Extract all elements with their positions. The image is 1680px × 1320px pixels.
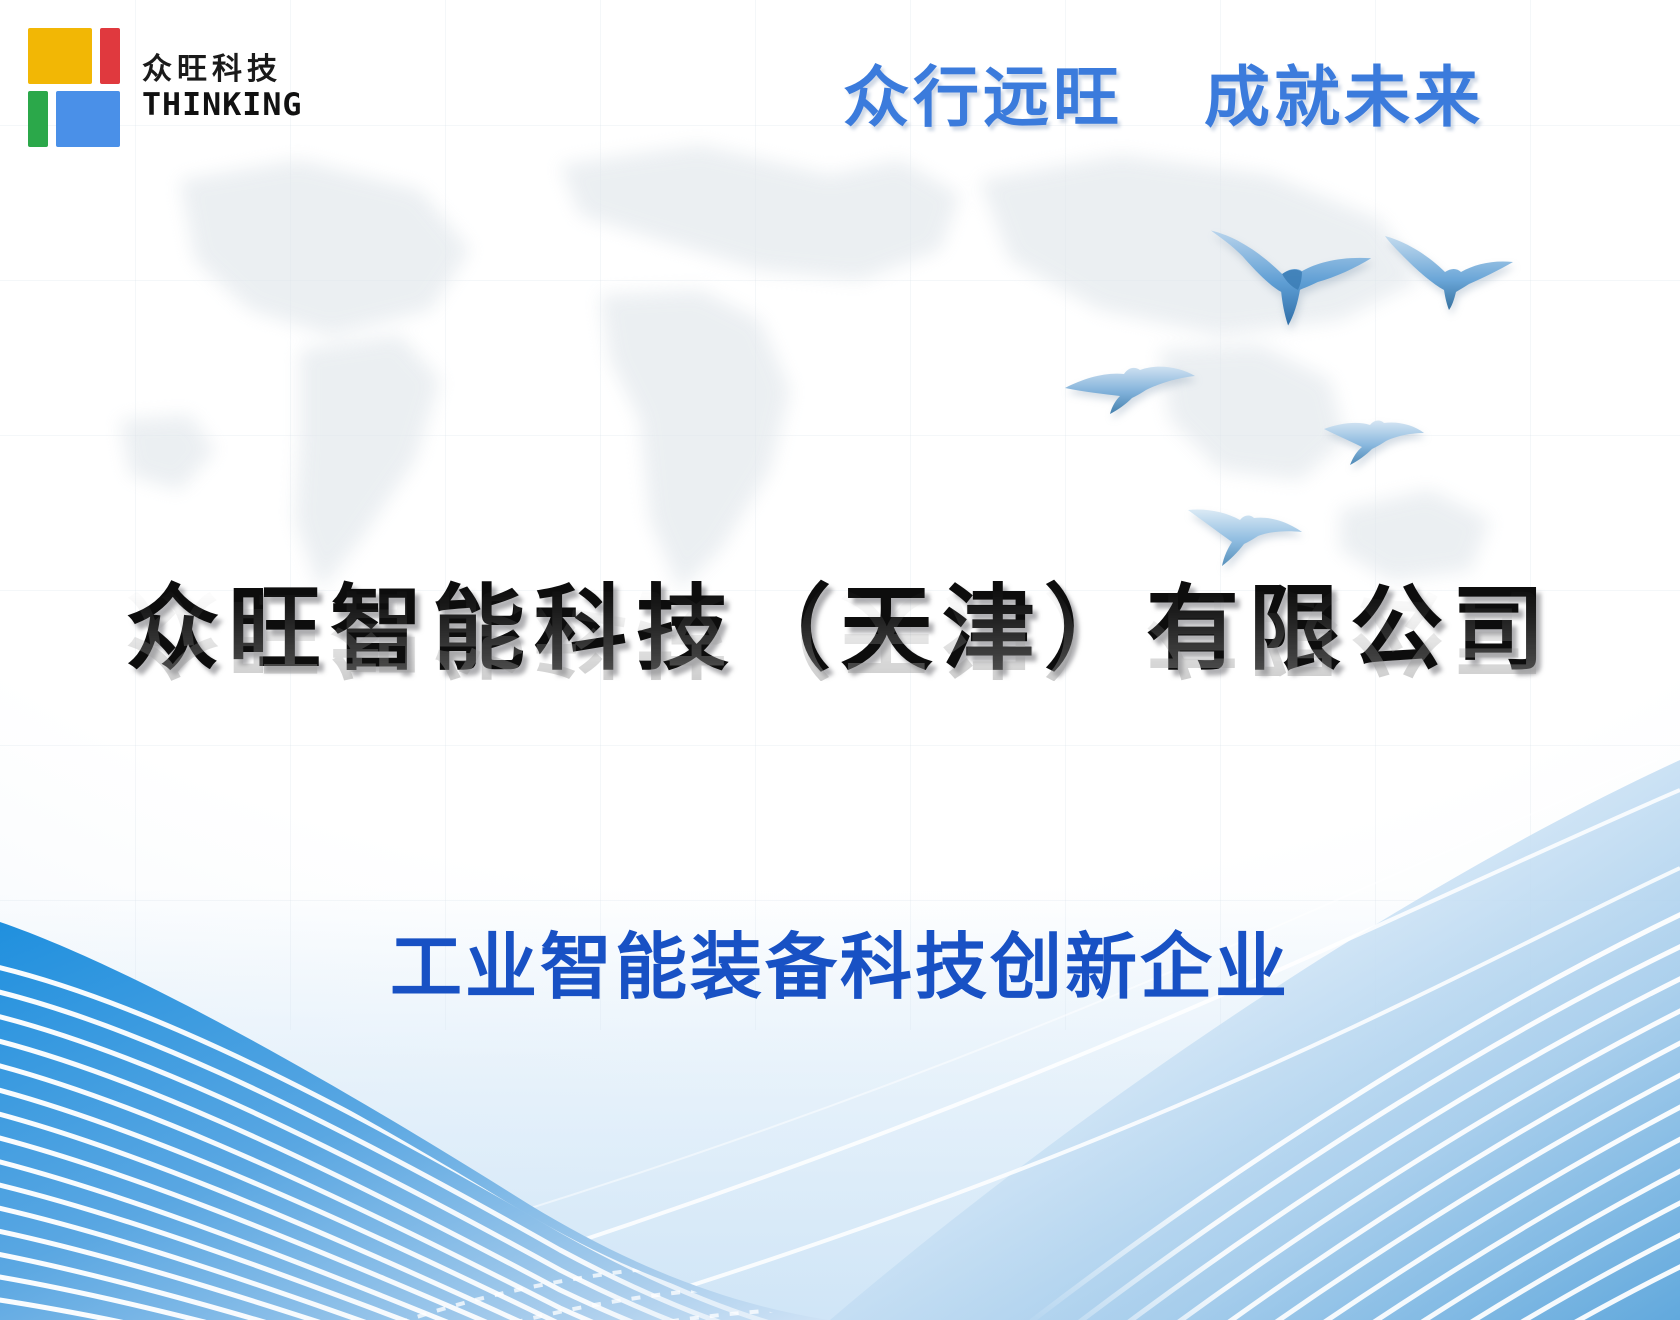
logo-color-blocks [28,28,120,147]
seagull-icon [1186,500,1304,568]
header-slogan: 众行远旺 成就未来 [843,62,1484,135]
title-block: 众旺智能科技（天津）有限公司 众旺智能科技（天津）有限公司 [0,580,1680,779]
logo-chinese-name: 众旺科技 [142,55,299,85]
seagull-icon [1062,362,1198,438]
presentation-slide: 众旺科技 THINKING 众行远旺 成就未来 众旺智能科技（天津）有限公司 众… [0,0,1680,1320]
seagull-icon [1383,230,1515,312]
logo-english-name: THINKING [142,90,302,121]
logo-yellow-block [28,28,92,84]
seagull-icon [1322,415,1426,473]
seagull-icon [1207,222,1385,332]
logo-blue-block [56,91,120,147]
page-subtitle: 工业智能装备科技创新企业 [0,908,1680,1013]
logo-red-block [100,28,120,84]
company-logo: 众旺科技 THINKING [28,28,299,147]
logo-green-block [28,91,48,147]
page-title-reflection: 众旺智能科技（天津）有限公司 [0,582,1680,681]
logo-wordmark: 众旺科技 THINKING [142,55,299,121]
